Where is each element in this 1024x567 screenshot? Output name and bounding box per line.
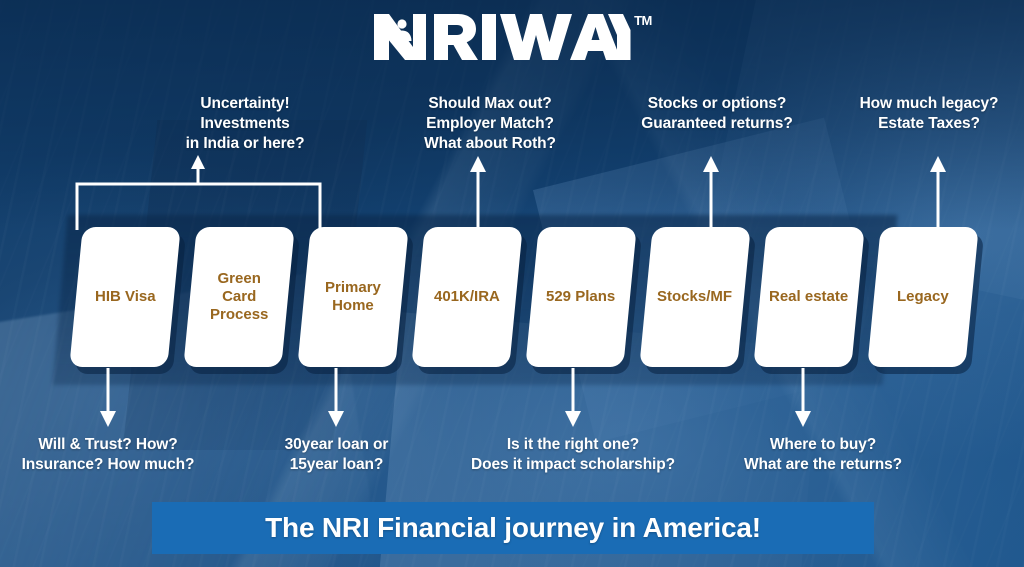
callout-line: Will & Trust? How? <box>8 435 208 455</box>
card-label: Stocks/MF <box>653 288 736 306</box>
infographic-canvas: TM Uncertainty! Investments in India or … <box>0 0 1024 567</box>
callout-mortgage-term: 30year loan or 15year loan? <box>249 435 424 475</box>
callout-line: Is it the right one? <box>444 435 702 455</box>
journey-cards: HIB Visa Green Card Process Primary Home… <box>0 0 1024 567</box>
card-real-estate[interactable]: Real estate <box>753 227 864 367</box>
card-label: Primary Home <box>321 279 385 315</box>
callout-will-trust-insurance: Will & Trust? How? Insurance? How much? <box>8 435 208 475</box>
card-label: 529 Plans <box>542 288 619 306</box>
callout-line: 30year loan or <box>249 435 424 455</box>
card-label: Legacy <box>893 288 953 306</box>
card-hib-visa[interactable]: HIB Visa <box>69 227 180 367</box>
callout-line: 15year loan? <box>249 455 424 475</box>
card-529-plans[interactable]: 529 Plans <box>525 227 636 367</box>
card-401k-ira[interactable]: 401K/IRA <box>411 227 522 367</box>
card-green-card[interactable]: Green Card Process <box>183 227 294 367</box>
card-legacy[interactable]: Legacy <box>867 227 978 367</box>
card-stocks-mf[interactable]: Stocks/MF <box>639 227 750 367</box>
banner-title: The NRI Financial journey in America! <box>265 512 761 544</box>
card-label: 401K/IRA <box>430 288 504 306</box>
callout-college-plan: Is it the right one? Does it impact scho… <box>444 435 702 475</box>
card-primary-home[interactable]: Primary Home <box>297 227 408 367</box>
bottom-connectors <box>0 368 1024 430</box>
callout-line: Insurance? How much? <box>8 455 208 475</box>
callout-real-estate-questions: Where to buy? What are the returns? <box>713 435 933 475</box>
card-label: Green Card Process <box>206 270 272 324</box>
card-label: HIB Visa <box>91 288 160 306</box>
callout-line: Does it impact scholarship? <box>444 455 702 475</box>
callout-line: Where to buy? <box>713 435 933 455</box>
title-banner: The NRI Financial journey in America! <box>152 502 874 554</box>
callout-line: What are the returns? <box>713 455 933 475</box>
card-label: Real estate <box>765 288 852 306</box>
